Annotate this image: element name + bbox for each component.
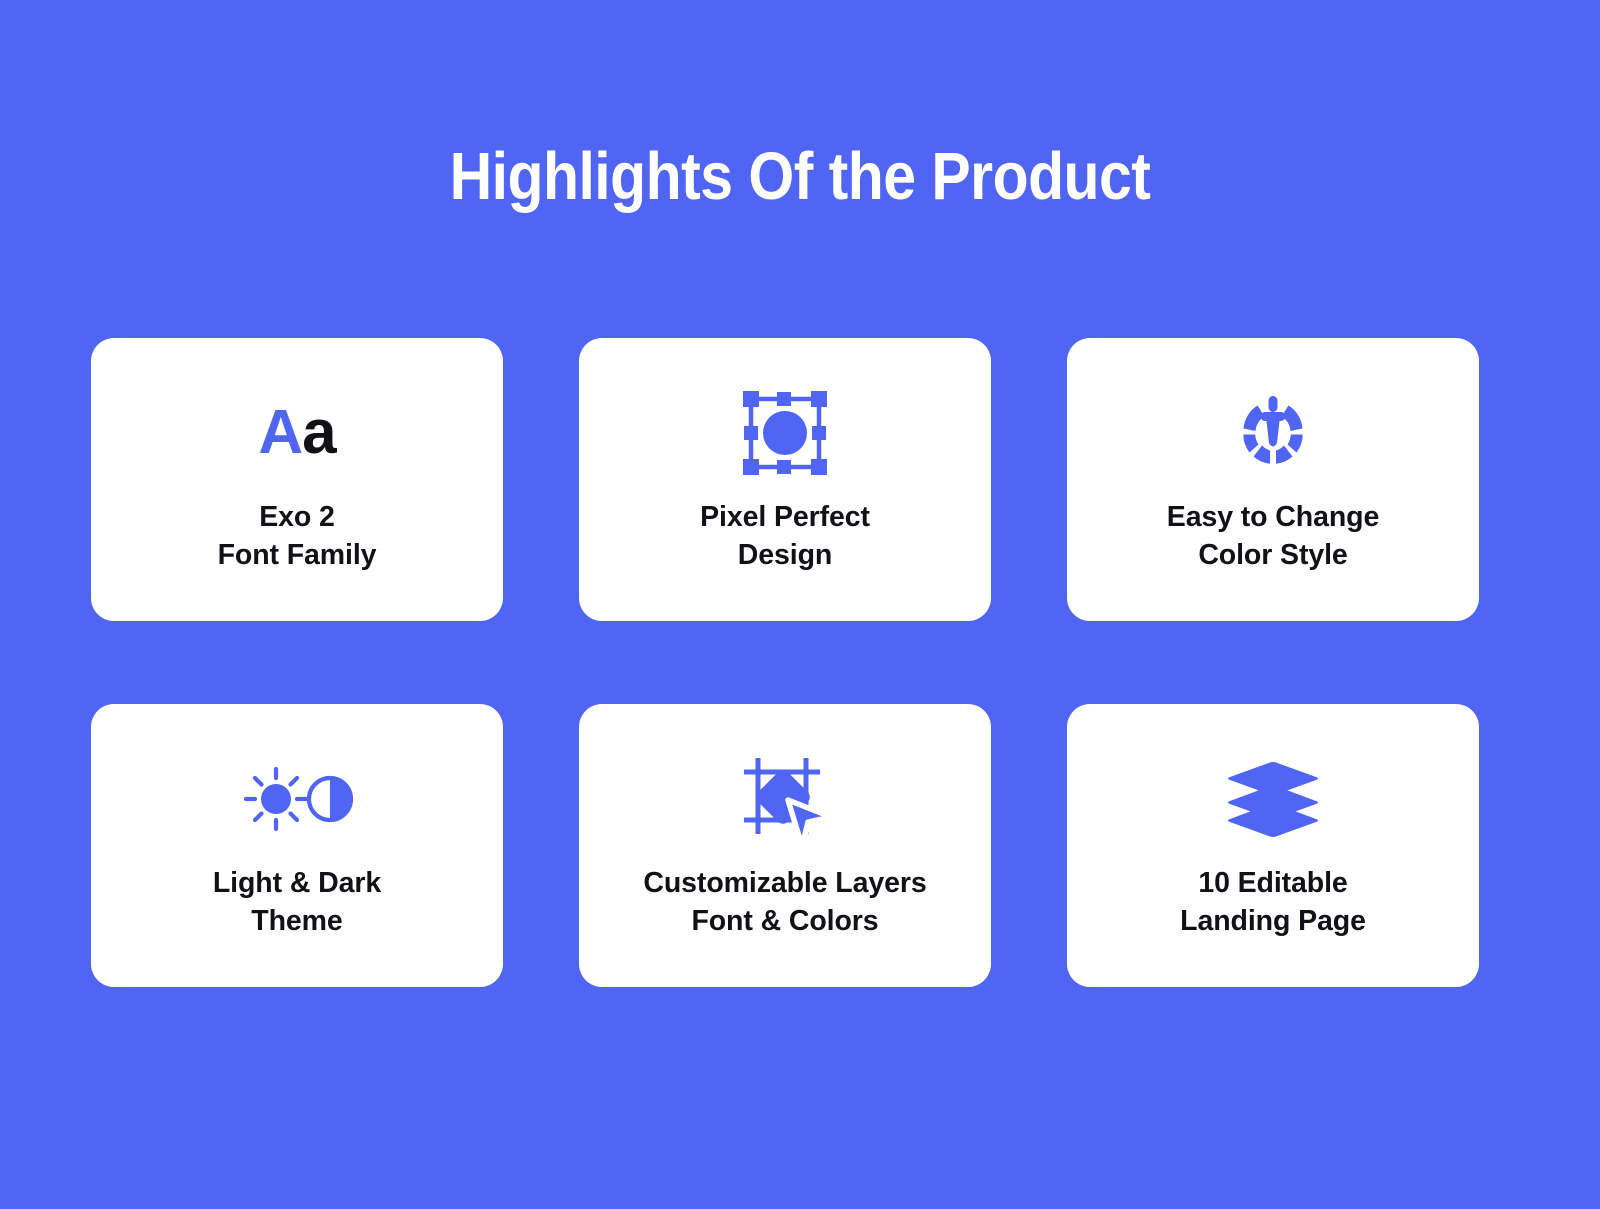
sun-moon-theme-icon [238,747,356,851]
highlights-grid: A a Exo 2 Font Family [91,338,1479,987]
highlight-card-label: Easy to Change Color Style [1167,499,1379,575]
highlight-card-label: Light & Dark Theme [213,865,381,941]
card-label-line1: Easy to Change [1167,499,1379,537]
selection-bounding-box-icon [739,381,831,485]
aa-lowercase-glyph: a [302,402,335,464]
highlight-card-label: Customizable Layers Font & Colors [643,865,926,941]
eyedropper-color-wheel-icon [1226,381,1320,485]
aa-typography-icon: A a [258,381,335,485]
artboard-cursor-icon [736,747,834,851]
card-label-line1: Light & Dark [213,865,381,903]
stacked-layers-icon [1226,747,1320,851]
card-label-line2: Design [700,537,870,575]
highlight-card-customizable-layers[interactable]: Customizable Layers Font & Colors [579,704,991,987]
card-label-line1: Customizable Layers [643,865,926,903]
highlight-card-pixel-perfect[interactable]: Pixel Perfect Design [579,338,991,621]
page-title: Highlights Of the Product [96,138,1504,215]
card-label-line2: Font & Colors [643,903,926,941]
aa-uppercase-glyph: A [258,402,302,464]
card-label-line2: Theme [213,903,381,941]
card-label-line1: Pixel Perfect [700,499,870,537]
highlight-card-landing-pages[interactable]: 10 Editable Landing Page [1067,704,1479,987]
highlight-card-label: Exo 2 Font Family [218,499,377,575]
card-label-line1: Exo 2 [218,499,377,537]
card-label-line2: Landing Page [1180,903,1366,941]
highlight-card-font-family[interactable]: A a Exo 2 Font Family [91,338,503,621]
highlight-card-label: Pixel Perfect Design [700,499,870,575]
highlight-card-color-style[interactable]: Easy to Change Color Style [1067,338,1479,621]
card-label-line1: 10 Editable [1180,865,1366,903]
card-label-line2: Color Style [1167,537,1379,575]
highlight-card-label: 10 Editable Landing Page [1180,865,1366,941]
card-label-line2: Font Family [218,537,377,575]
slide-canvas: Highlights Of the Product A a Exo 2 Font… [0,0,1600,1209]
highlight-card-theme[interactable]: Light & Dark Theme [91,704,503,987]
